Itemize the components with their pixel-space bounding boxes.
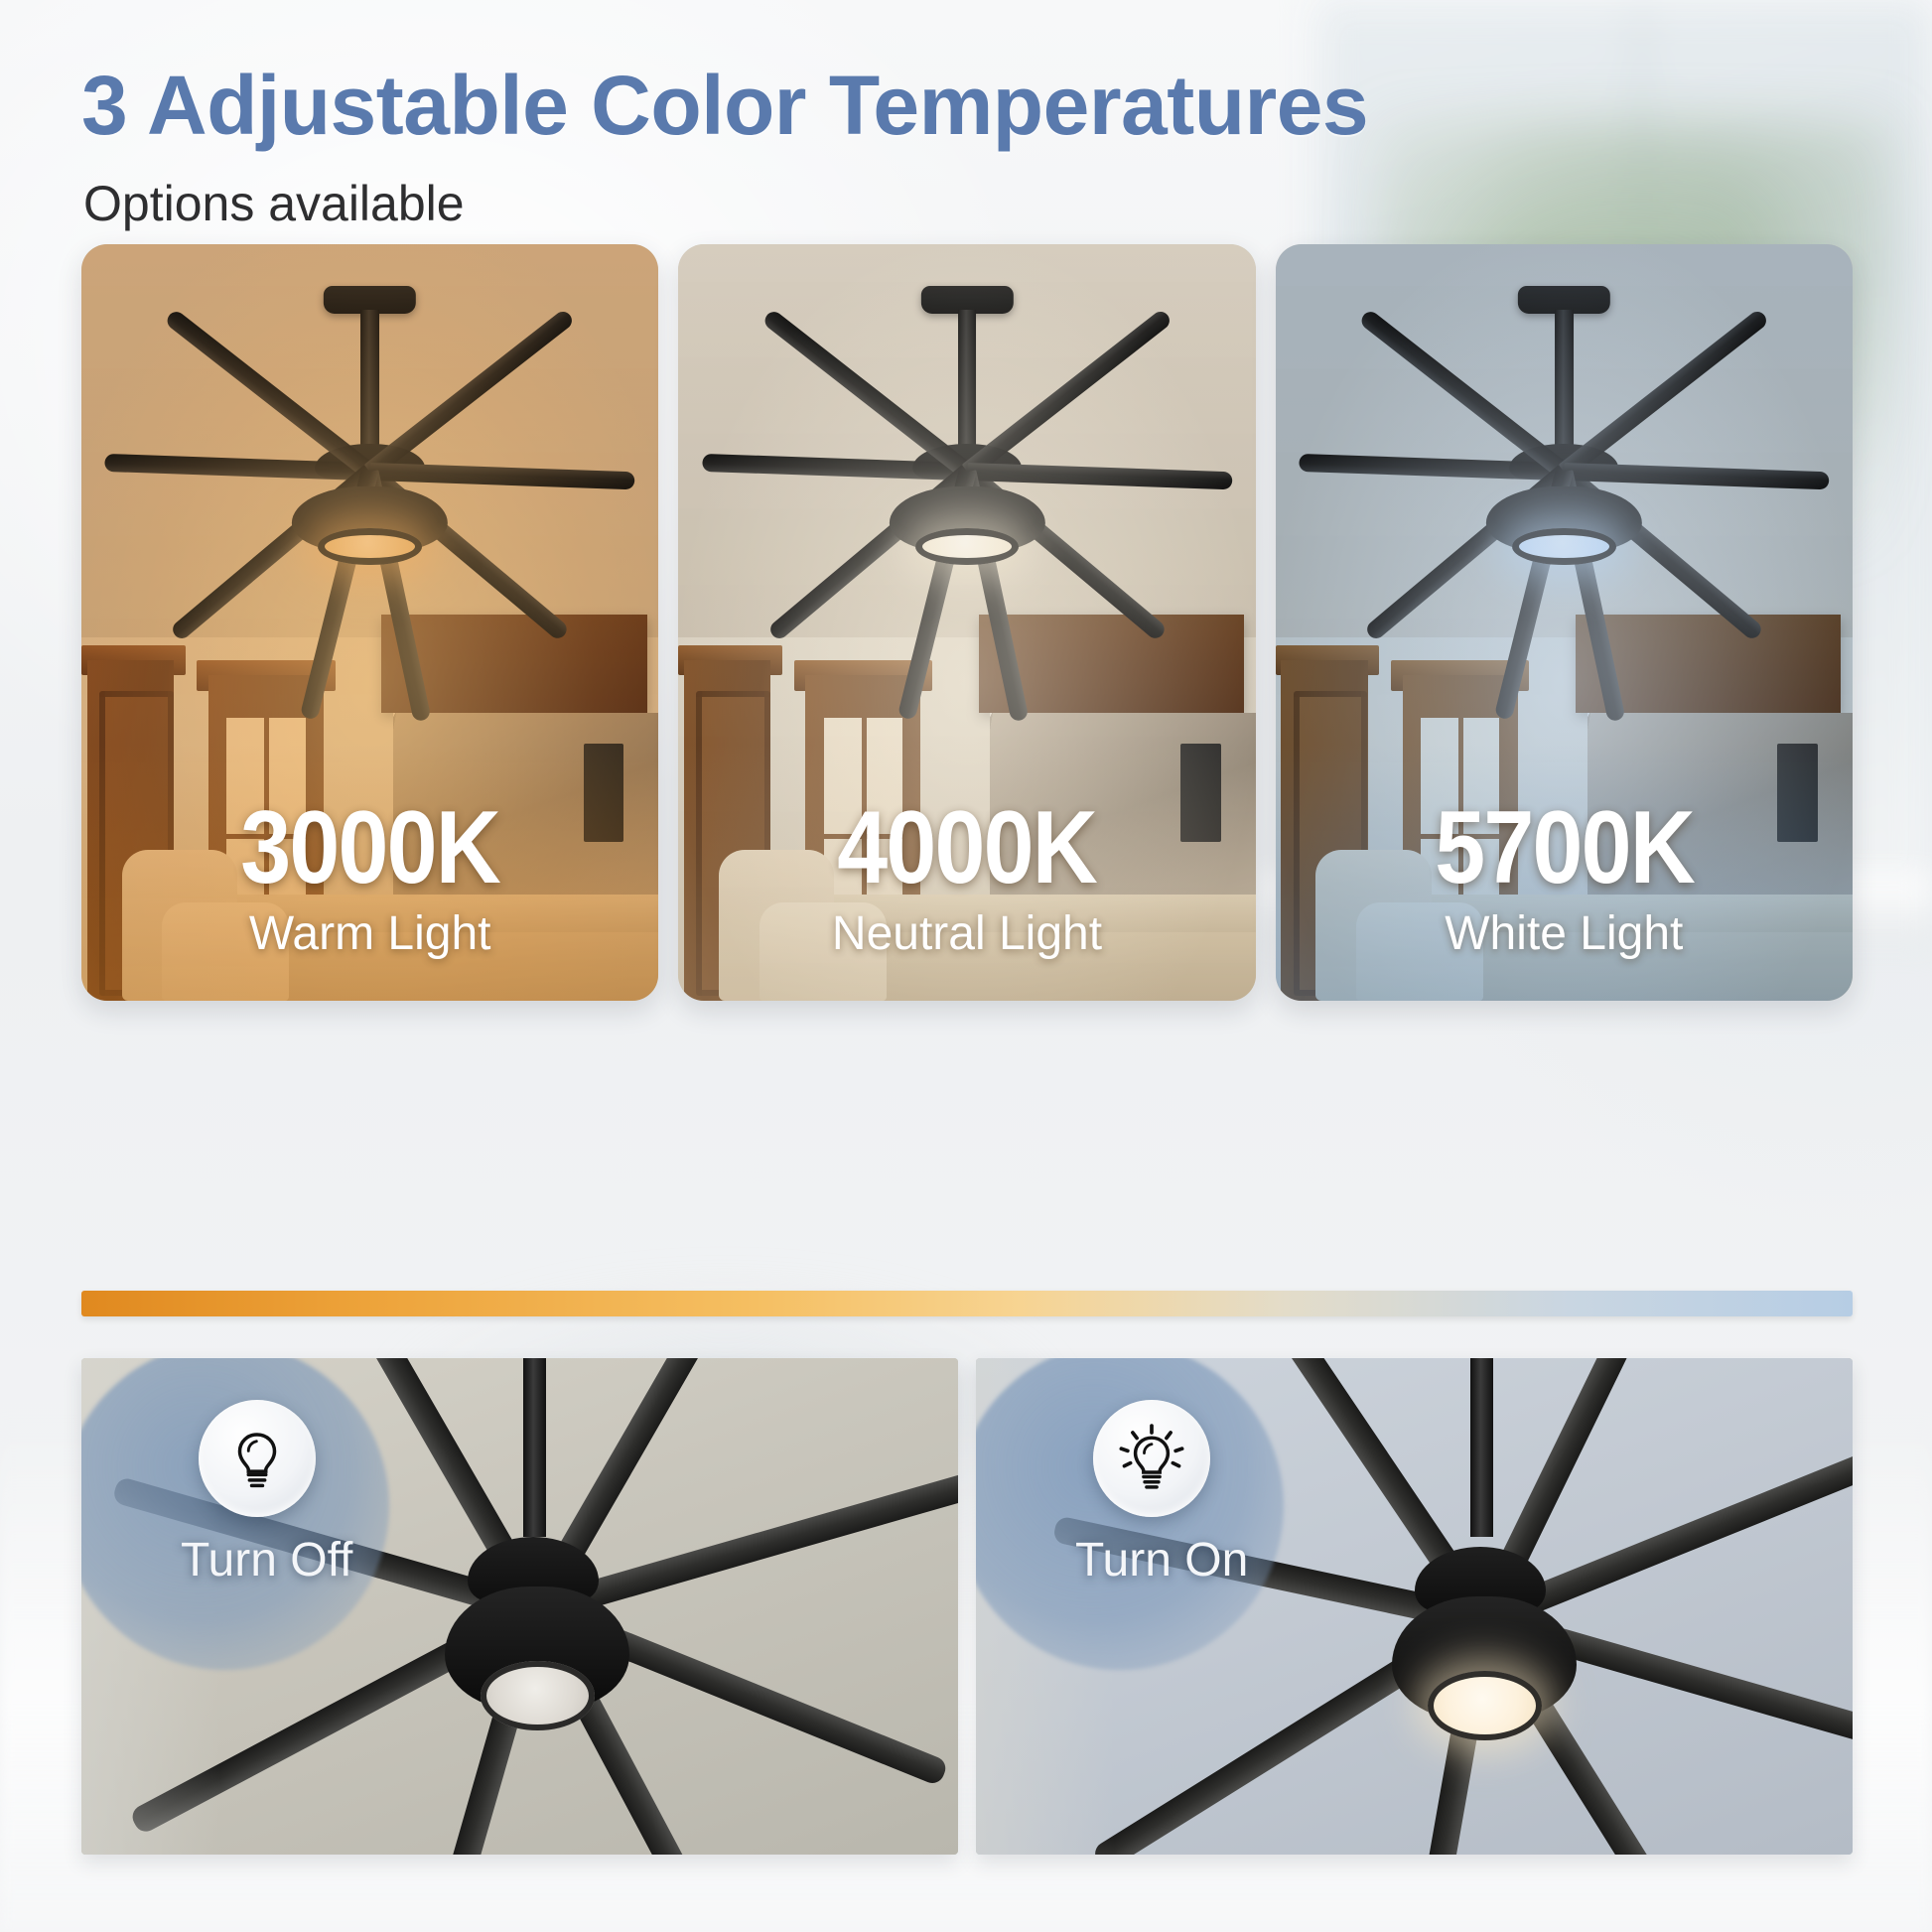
fan-blade <box>967 463 1233 490</box>
demo-panel-turn-on[interactable]: Turn On <box>976 1358 1853 1855</box>
fan-light-disc <box>1428 1671 1542 1740</box>
color-temperature-card-row: 3000K Warm Light <box>81 244 1853 1001</box>
wall-panel <box>1777 744 1818 842</box>
panel-scene-off: Turn Off <box>81 1358 958 1855</box>
fan-blade <box>1358 309 1570 480</box>
ceiling-fan-warm <box>81 282 658 675</box>
ceiling-fan-cool <box>1276 282 1853 675</box>
fan-light-disc <box>318 528 422 566</box>
ceiling-fan-neutral <box>678 282 1255 675</box>
chair-seat <box>759 902 887 1001</box>
fan-blade <box>1559 309 1770 480</box>
color-card-4000k[interactable]: 4000K Neutral Light <box>678 244 1255 1001</box>
fan-blade <box>364 309 576 480</box>
fan-light-disc <box>1512 528 1616 566</box>
chair-seat <box>162 902 289 1001</box>
room-scene-neutral <box>678 244 1255 1001</box>
fan-light-disc <box>915 528 1020 566</box>
fan-blade <box>961 309 1173 480</box>
fan-blade <box>761 309 973 480</box>
color-card-3000k[interactable]: 3000K Warm Light <box>81 244 658 1001</box>
color-card-5700k[interactable]: 5700K White Light <box>1276 244 1853 1001</box>
room-scene-cool <box>1276 244 1853 1001</box>
fan-downrod <box>523 1358 546 1537</box>
page-subtitle: Options available <box>83 175 465 232</box>
fan-downrod <box>360 310 379 448</box>
panel-label-turn-off: Turn Off <box>181 1533 352 1587</box>
gradient-divider <box>81 1291 1853 1316</box>
fan-blade <box>1564 463 1830 490</box>
room-scene-warm <box>81 244 658 1001</box>
chair-seat <box>1356 902 1483 1001</box>
demo-panel-turn-off[interactable]: Turn Off <box>81 1358 958 1855</box>
wall-panel <box>1180 744 1221 842</box>
page-title: 3 Adjustable Color Temperatures <box>81 58 1368 154</box>
panel-scene-on: Turn On <box>976 1358 1853 1855</box>
panel-label-turn-on: Turn On <box>1075 1533 1248 1587</box>
fan-blade <box>164 309 375 480</box>
wall-panel <box>584 744 624 842</box>
fan-downrod <box>1470 1358 1493 1537</box>
lightbulb-off-icon[interactable] <box>199 1400 316 1517</box>
lightbulb-on-icon[interactable] <box>1093 1400 1210 1517</box>
fan-downrod <box>958 310 977 448</box>
fan-light-disc <box>481 1661 595 1730</box>
demo-panel-row: Turn Off <box>81 1358 1853 1855</box>
fan-blade <box>369 463 635 490</box>
fan-downrod <box>1555 310 1574 448</box>
